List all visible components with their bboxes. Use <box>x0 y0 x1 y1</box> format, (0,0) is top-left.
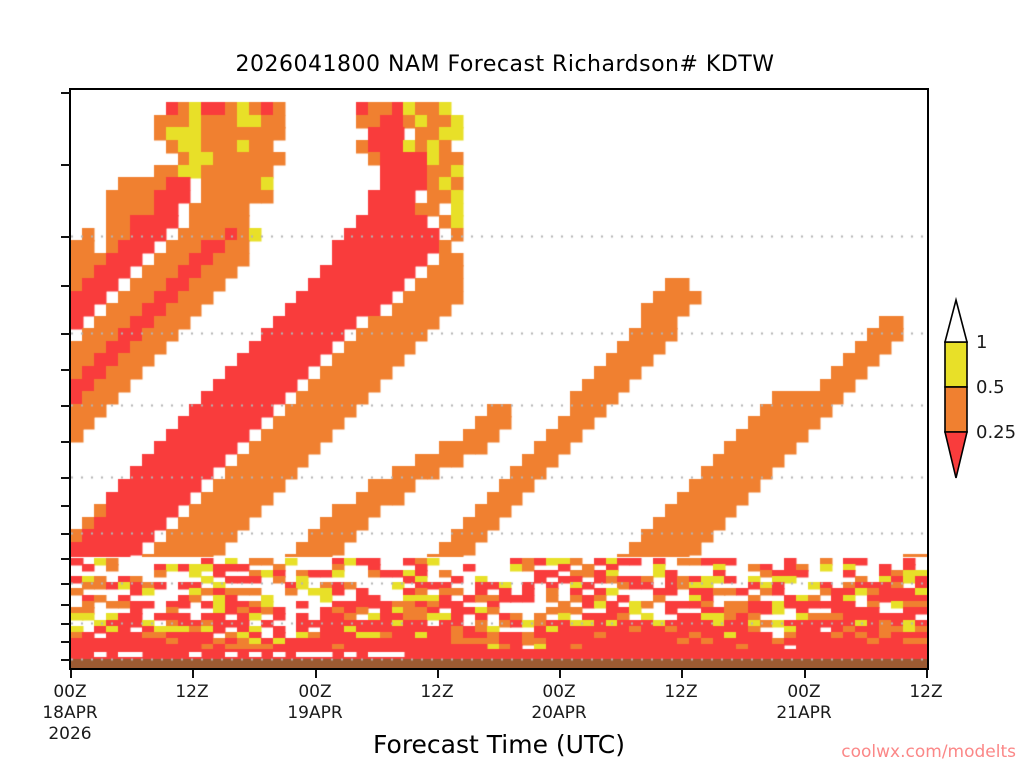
x-tick-label: 00Z 19APR <box>255 682 375 724</box>
y-tick-mark <box>61 164 70 166</box>
colorbar-arrow-up-outline <box>945 300 967 342</box>
y-tick-mark <box>61 604 70 606</box>
y-tick-mark <box>61 477 70 479</box>
x-tick-mark <box>70 670 72 678</box>
colorbar-legend: 1 0.5 0.25 <box>938 296 1024 486</box>
y-tick-mark <box>61 505 70 507</box>
y-tick-mark <box>61 583 70 585</box>
y-tick-mark <box>61 236 70 238</box>
y-tick-mark <box>61 623 70 625</box>
colorbar-arrow-down <box>945 432 967 478</box>
x-tick-mark <box>559 670 561 678</box>
y-tick-mark <box>61 369 70 371</box>
y-tick-mark <box>61 285 70 287</box>
x-tick-label: 00Z 20APR <box>499 682 619 724</box>
x-tick-mark <box>192 670 194 678</box>
y-tick-mark <box>61 659 70 661</box>
x-tick-mark <box>926 670 928 678</box>
x-tick-mark <box>315 670 317 678</box>
colorbar-tick-025: 0.25 <box>976 422 1016 443</box>
x-axis-title: Forecast Time (UTC) <box>69 730 929 759</box>
y-tick-mark <box>61 533 70 535</box>
colorbar-tick-05: 0.5 <box>976 377 1005 398</box>
colorbar-band-orange <box>945 387 967 432</box>
x-tick-label: 12Z <box>377 682 497 703</box>
y-tick-mark <box>61 92 70 94</box>
plot-area <box>69 88 929 670</box>
heatmap-canvas <box>71 90 927 668</box>
chart-page: 2026041800 NAM Forecast Richardson# KDTW… <box>0 0 1024 768</box>
y-tick-mark <box>61 558 70 560</box>
y-tick-mark <box>61 441 70 443</box>
colorbar-band-yellow <box>945 342 967 387</box>
page-title: 2026041800 NAM Forecast Richardson# KDTW <box>0 52 1010 77</box>
x-tick-label: 12Z <box>866 682 986 703</box>
y-tick-mark <box>61 641 70 643</box>
x-tick-mark <box>437 670 439 678</box>
x-tick-mark <box>804 670 806 678</box>
x-tick-mark <box>681 670 683 678</box>
x-tick-label: 12Z <box>621 682 741 703</box>
x-tick-label: 12Z <box>132 682 252 703</box>
y-tick-mark <box>61 333 70 335</box>
colorbar-tick-1: 1 <box>976 332 987 353</box>
x-tick-label: 00Z 21APR <box>744 682 864 724</box>
y-tick-mark <box>61 405 70 407</box>
watermark-link[interactable]: coolwx.com/modelts <box>841 742 1016 762</box>
